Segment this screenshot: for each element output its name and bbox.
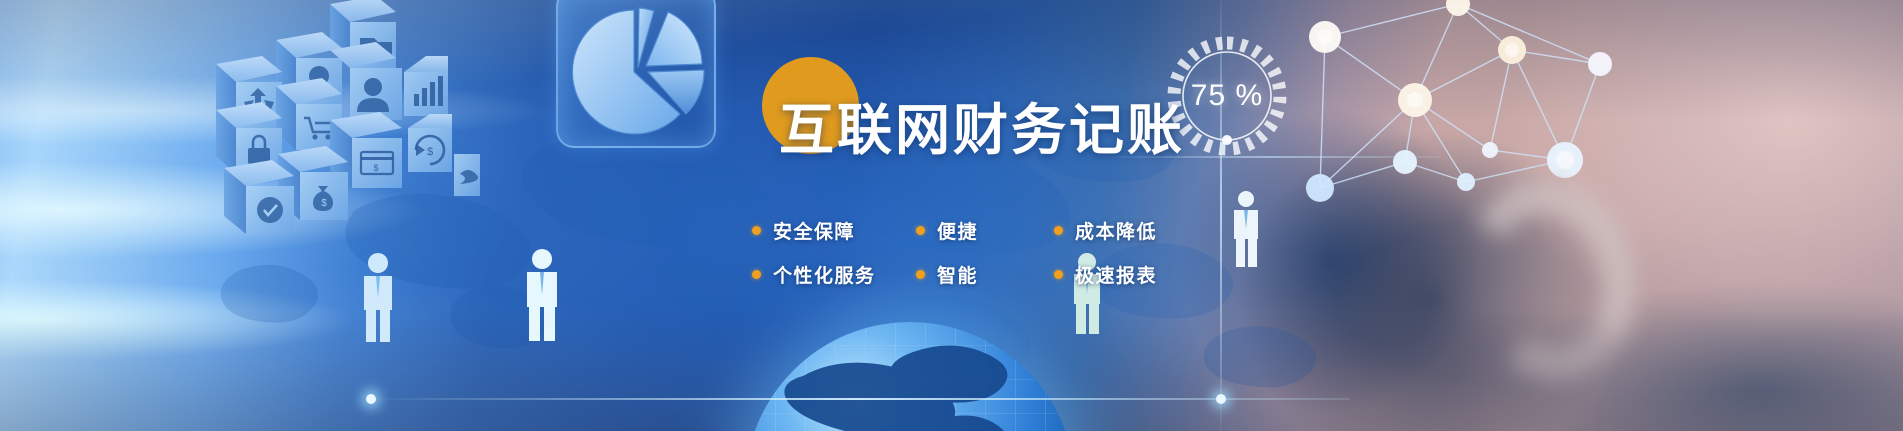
feature-row-2: 个性化服务 智能 极速报表 xyxy=(752,252,1252,296)
person-figure-1 xyxy=(357,252,399,344)
mug-handle xyxy=(1446,165,1654,396)
world-globe xyxy=(745,322,1075,431)
line-node-left xyxy=(366,394,376,404)
feature-label: 个性化服务 xyxy=(773,261,876,288)
feature-label: 便捷 xyxy=(937,217,978,244)
cube-bar-chart xyxy=(404,56,448,116)
person-figure-2 xyxy=(520,248,564,344)
pie-chart xyxy=(568,0,708,138)
svg-text:$: $ xyxy=(427,146,433,158)
bullet-dot-icon xyxy=(1054,270,1063,279)
cube-dollar-refresh: $ xyxy=(408,114,452,172)
bullet-dot-icon xyxy=(916,226,925,235)
feature-personalized-service: 个性化服务 xyxy=(752,261,916,288)
cube-clock-check xyxy=(224,160,294,234)
feature-cost-reduction: 成本降低 xyxy=(1054,217,1157,244)
coffee-mug xyxy=(1455,160,1705,410)
feature-label: 安全保障 xyxy=(773,217,855,244)
marketing-banner: $ $ $ xyxy=(0,0,1903,431)
icon-cube-cluster: $ $ $ xyxy=(180,0,480,244)
cube-money-bill xyxy=(454,154,480,196)
feature-list: 安全保障 便捷 成本降低 个性化服务 智能 极速报表 xyxy=(752,208,1252,296)
page-title: 互联网财务记账 xyxy=(779,103,1185,158)
svg-text:$: $ xyxy=(373,163,378,173)
feature-row-1: 安全保障 便捷 成本降低 xyxy=(752,208,1252,252)
svg-text:$: $ xyxy=(321,198,327,209)
bullet-dot-icon xyxy=(1054,226,1063,235)
bullet-dot-icon xyxy=(916,270,925,279)
globe-continents xyxy=(745,322,1075,431)
pie-chart-panel xyxy=(556,0,716,148)
bullet-dot-icon xyxy=(752,226,761,235)
feature-convenient: 便捷 xyxy=(916,217,1054,244)
feature-label: 极速报表 xyxy=(1075,261,1157,288)
feature-intelligent: 智能 xyxy=(916,261,1054,288)
line-node-right xyxy=(1216,394,1226,404)
feature-fast-reports: 极速报表 xyxy=(1054,261,1157,288)
bullet-dot-icon xyxy=(752,270,761,279)
feature-label: 智能 xyxy=(937,261,978,288)
feature-label: 成本降低 xyxy=(1075,217,1157,244)
feature-security: 安全保障 xyxy=(752,217,916,244)
horizontal-accent-line xyxy=(370,398,1350,400)
